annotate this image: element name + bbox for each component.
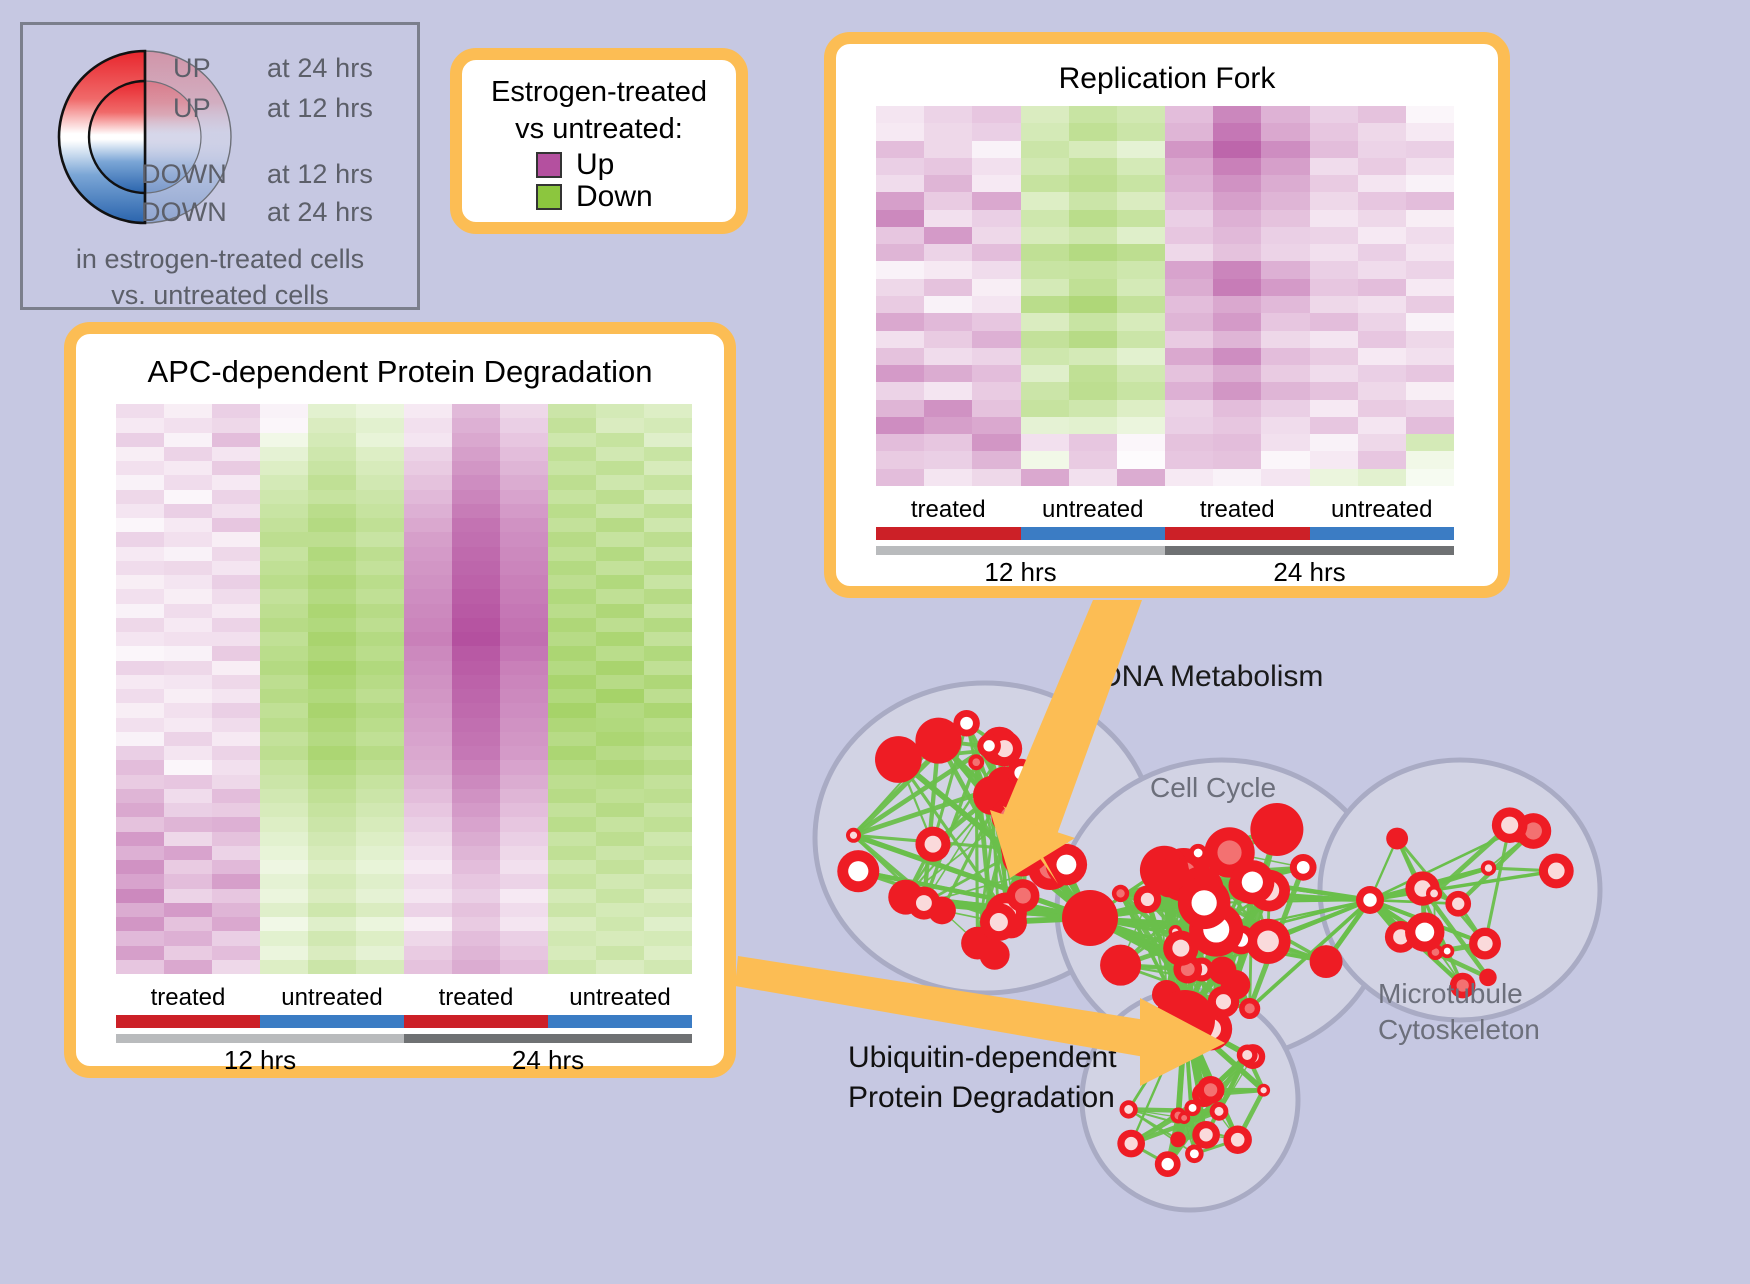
heatmap-cell <box>404 490 452 504</box>
heatmap-cell <box>164 532 212 546</box>
heatmap-cell <box>548 718 596 732</box>
heatmap-cell <box>452 589 500 603</box>
heatmap-cell <box>116 960 164 974</box>
heatmap-cell <box>1117 106 1165 123</box>
network-node <box>1117 1130 1145 1158</box>
heatmap-cell <box>876 382 924 399</box>
network-node <box>1257 1084 1270 1097</box>
heatmap-cell <box>308 447 356 461</box>
heatmap-cell <box>644 931 692 945</box>
heatmap-cell <box>1069 365 1117 382</box>
heatmap-cell <box>596 661 644 675</box>
heatmap-cell <box>1261 175 1309 192</box>
heatmap-cell <box>308 832 356 846</box>
network-graph <box>770 600 1750 1279</box>
heatmap-cell <box>452 718 500 732</box>
legend-title-line1: Estrogen-treated <box>480 74 718 111</box>
network-node <box>1539 853 1574 888</box>
heatmap-cell <box>1021 331 1069 348</box>
heatmap-cell <box>924 192 972 209</box>
heatmap-cell <box>548 817 596 831</box>
heatmap-cell <box>164 604 212 618</box>
heatmap-cell <box>500 404 548 418</box>
heatmap-cell <box>1021 227 1069 244</box>
heatmap-cell <box>260 703 308 717</box>
heatmap-cell <box>308 817 356 831</box>
heatmap-cell <box>356 404 404 418</box>
heatmap-cell <box>548 646 596 660</box>
heatmap-cell <box>548 889 596 903</box>
heatmap-cell <box>404 532 452 546</box>
heatmap-cell <box>1069 244 1117 261</box>
heatmap-cell <box>500 903 548 917</box>
heatmap-cell <box>876 348 924 365</box>
heatmap-cell <box>1021 141 1069 158</box>
time-group-bar <box>876 546 1165 555</box>
heatmap-cell <box>260 646 308 660</box>
heatmap-cell <box>164 703 212 717</box>
heatmap-cell <box>356 874 404 888</box>
heatmap-cell <box>972 106 1020 123</box>
heatmap-cell <box>596 561 644 575</box>
heatmap-cell <box>500 632 548 646</box>
heatmap-cell <box>1358 400 1406 417</box>
heatmap-cell <box>260 461 308 475</box>
heatmap-cell <box>1261 451 1309 468</box>
heatmap-cell <box>596 746 644 760</box>
heatmap-cell <box>1406 106 1454 123</box>
heatmap-cell <box>116 518 164 532</box>
heatmap-cell <box>164 832 212 846</box>
network-node <box>1356 886 1384 914</box>
heatmap-cell <box>260 675 308 689</box>
replication-fork-title: Replication Fork <box>836 62 1498 96</box>
sample-group-bar <box>1310 527 1455 540</box>
heatmap-cell <box>1021 175 1069 192</box>
heatmap-cell <box>1406 451 1454 468</box>
heatmap-cell <box>596 960 644 974</box>
heatmap-cell <box>404 732 452 746</box>
heatmap-cell <box>308 874 356 888</box>
heatmap-cell <box>644 661 692 675</box>
heatmap-cell <box>356 689 404 703</box>
heatmap-cell <box>1117 296 1165 313</box>
heatmap-cell <box>116 746 164 760</box>
heatmap-cell <box>1021 210 1069 227</box>
heatmap-cell <box>164 475 212 489</box>
heatmap-cell <box>404 518 452 532</box>
heatmap-cell <box>260 661 308 675</box>
network-node <box>991 798 1028 835</box>
heatmap-cell <box>548 917 596 931</box>
heatmap-cell <box>1310 400 1358 417</box>
heatmap-cell <box>548 404 596 418</box>
heatmap-cell <box>260 732 308 746</box>
heatmap-cell <box>308 889 356 903</box>
heatmap-cell <box>1213 417 1261 434</box>
heatmap-cell <box>1406 348 1454 365</box>
heatmap-cell <box>452 860 500 874</box>
heatmap-cell <box>356 475 404 489</box>
heatmap-cell <box>164 561 212 575</box>
time-group-bar <box>116 1034 404 1043</box>
heatmap-cell <box>1165 175 1213 192</box>
heatmap-cell <box>116 675 164 689</box>
heatmap-cell <box>644 946 692 960</box>
heatmap-cell <box>116 689 164 703</box>
sample-group-bar <box>1165 527 1310 540</box>
heatmap-cell <box>1406 261 1454 278</box>
heatmap-cell <box>356 575 404 589</box>
heatmap-cell <box>876 400 924 417</box>
network-node <box>1445 891 1471 917</box>
heatmap-cell <box>876 141 924 158</box>
network-node <box>1239 998 1260 1019</box>
network-node <box>1007 759 1035 787</box>
heatmap-cell <box>404 418 452 432</box>
heatmap-cell <box>452 960 500 974</box>
heatmap-cell <box>452 646 500 660</box>
heatmap-cell <box>404 903 452 917</box>
network-node <box>1005 828 1050 873</box>
heatmap-cell <box>260 561 308 575</box>
heatmap-cell <box>212 518 260 532</box>
heatmap-cell <box>356 775 404 789</box>
heatmap-cell <box>308 732 356 746</box>
heatmap-cell <box>1406 434 1454 451</box>
sample-group-bar <box>404 1015 548 1028</box>
heatmap-cell <box>596 718 644 732</box>
heatmap-cell <box>1165 261 1213 278</box>
replication-fork-sample-annotation: treateduntreatedtreateduntreated12 hrs24… <box>876 496 1454 588</box>
heatmap-cell <box>212 689 260 703</box>
heatmap-cell <box>356 817 404 831</box>
heatmap-cell <box>164 632 212 646</box>
heatmap-cell <box>164 789 212 803</box>
heatmap-cell <box>500 874 548 888</box>
time-label: 24 hrs <box>1165 557 1454 588</box>
network-node <box>1185 1145 1204 1164</box>
network-node <box>1426 885 1442 901</box>
network-node <box>1170 1132 1186 1148</box>
heatmap-cell <box>644 675 692 689</box>
heatmap-cell <box>1406 313 1454 330</box>
heatmap-cell <box>972 382 1020 399</box>
heatmap-cell <box>308 903 356 917</box>
heatmap-cell <box>1069 469 1117 486</box>
heatmap-cell <box>500 732 548 746</box>
heatmap-cell <box>644 646 692 660</box>
heatmap-cell <box>596 760 644 774</box>
heatmap-cell <box>644 817 692 831</box>
heatmap-cell <box>924 400 972 417</box>
heatmap-cell <box>1117 417 1165 434</box>
heatmap-cell <box>164 732 212 746</box>
heatmap-cell <box>1358 227 1406 244</box>
heatmap-cell <box>1117 451 1165 468</box>
heatmap-cell <box>356 832 404 846</box>
heatmap-cell <box>1310 382 1358 399</box>
heatmap-cell <box>1261 192 1309 209</box>
heatmap-cell <box>452 889 500 903</box>
heatmap-cell <box>1213 434 1261 451</box>
network-node <box>953 710 980 737</box>
heatmap-cell <box>644 832 692 846</box>
heatmap-cell <box>308 632 356 646</box>
heatmap-cell <box>164 504 212 518</box>
heatmap-cell <box>1213 382 1261 399</box>
heatmap-cell <box>452 732 500 746</box>
heatmap-cell <box>260 589 308 603</box>
heatmap-cell <box>1213 348 1261 365</box>
heatmap-cell <box>1213 227 1261 244</box>
heatmap-cell <box>116 661 164 675</box>
heatmap-cell <box>1310 244 1358 261</box>
heatmap-cell <box>212 775 260 789</box>
heatmap-cell <box>260 618 308 632</box>
heatmap-cell <box>596 575 644 589</box>
heatmap-cell <box>1165 296 1213 313</box>
network-node <box>968 754 984 770</box>
heatmap-cell <box>1165 210 1213 227</box>
heatmap-cell <box>404 775 452 789</box>
heatmap-cell <box>1117 434 1165 451</box>
heatmap-cell <box>212 860 260 874</box>
heatmap-cell <box>452 490 500 504</box>
heatmap-cell <box>548 689 596 703</box>
heatmap-cell <box>1358 313 1406 330</box>
heatmap-cell <box>404 832 452 846</box>
heatmap-cell <box>260 504 308 518</box>
network-node <box>1210 1102 1229 1121</box>
heatmap-cell <box>972 331 1020 348</box>
heatmap-cell <box>644 760 692 774</box>
heatmap-cell <box>1021 417 1069 434</box>
heatmap-cell <box>404 404 452 418</box>
heatmap-cell <box>596 547 644 561</box>
heatmap-cell <box>1310 434 1358 451</box>
heatmap-cell <box>972 175 1020 192</box>
heatmap-cell <box>356 917 404 931</box>
heatmap-cell <box>308 518 356 532</box>
heatmap-cell <box>164 874 212 888</box>
heatmap-cell <box>260 889 308 903</box>
heatmap-cell <box>1069 175 1117 192</box>
heatmap-cell <box>164 547 212 561</box>
sample-group-bar <box>1021 527 1166 540</box>
network-node <box>1230 860 1274 904</box>
heatmap-cell <box>308 575 356 589</box>
heatmap-cell <box>212 632 260 646</box>
heatmap-cell <box>164 775 212 789</box>
heatmap-cell <box>644 846 692 860</box>
heatmap-cell <box>308 433 356 447</box>
heatmap-cell <box>356 646 404 660</box>
heatmap-cell <box>1165 106 1213 123</box>
heatmap-cell <box>308 946 356 960</box>
heatmap-cell <box>1117 141 1165 158</box>
heatmap-cell <box>1021 296 1069 313</box>
heatmap-cell <box>1213 158 1261 175</box>
heatmap-cell <box>212 732 260 746</box>
heatmap-cell <box>308 689 356 703</box>
heatmap-cell <box>924 382 972 399</box>
heatmap-cell <box>260 846 308 860</box>
heatmap-cell <box>876 469 924 486</box>
heatmap-cell <box>548 433 596 447</box>
network-node <box>846 828 861 843</box>
heatmap-cell <box>260 775 308 789</box>
legend-title-line2: vs untreated: <box>480 111 718 148</box>
heatmap-cell <box>1358 279 1406 296</box>
heatmap-cell <box>972 261 1020 278</box>
heatmap-cell <box>116 490 164 504</box>
heatmap-cell <box>500 532 548 546</box>
heatmap-cell <box>356 461 404 475</box>
heatmap-cell <box>644 775 692 789</box>
heatmap-cell <box>260 433 308 447</box>
heatmap-cell <box>1261 365 1309 382</box>
heatmap-cell <box>1213 106 1261 123</box>
sample-group-bar <box>876 527 1021 540</box>
heatmap-cell <box>924 279 972 296</box>
heatmap-cell <box>260 632 308 646</box>
heatmap-cell <box>1069 313 1117 330</box>
heatmap-cell <box>1117 365 1165 382</box>
heatmap-cell <box>1406 123 1454 140</box>
heatmap-cell <box>1021 365 1069 382</box>
heatmap-cell <box>212 760 260 774</box>
heatmap-cell <box>644 561 692 575</box>
heatmap-cell <box>260 789 308 803</box>
heatmap-cell <box>876 123 924 140</box>
heatmap-cell <box>500 447 548 461</box>
heatmap-cell <box>548 860 596 874</box>
cluster-label-dna-metabolism: DNA Metabolism <box>1100 660 1323 694</box>
heatmap-cell <box>972 313 1020 330</box>
heatmap-cell <box>164 889 212 903</box>
heatmap-cell <box>404 575 452 589</box>
heatmap-cell <box>212 832 260 846</box>
heatmap-cell <box>308 703 356 717</box>
heatmap-cell <box>212 718 260 732</box>
heatmap-cell <box>452 461 500 475</box>
heatmap-cell <box>500 661 548 675</box>
heatmap-cell <box>500 775 548 789</box>
heatmap-cell <box>1310 158 1358 175</box>
key-row-1-label: UP <box>173 93 211 124</box>
heatmap-cell <box>1406 331 1454 348</box>
heatmap-cell <box>596 675 644 689</box>
heatmap-cell <box>972 417 1020 434</box>
heatmap-cell <box>1261 469 1309 486</box>
key-row-2-label: DOWN <box>141 159 227 190</box>
heatmap-cell <box>644 475 692 489</box>
heatmap-cell <box>1358 244 1406 261</box>
heatmap-cell <box>356 760 404 774</box>
heatmap-cell <box>596 604 644 618</box>
heatmap-cell <box>876 417 924 434</box>
heatmap-cell <box>596 490 644 504</box>
heatmap-cell <box>308 931 356 945</box>
heatmap-cell <box>404 789 452 803</box>
heatmap-cell <box>1358 141 1406 158</box>
key-footnote-line1: in estrogen-treated cells <box>23 241 417 277</box>
heatmap-cell <box>644 960 692 974</box>
heatmap-cell <box>1261 348 1309 365</box>
heatmap-cell <box>924 175 972 192</box>
heatmap-cell <box>1021 158 1069 175</box>
heatmap-cell <box>1310 331 1358 348</box>
heatmap-cell <box>500 561 548 575</box>
heatmap-cell <box>308 618 356 632</box>
heatmap-cell <box>260 475 308 489</box>
heatmap-cell <box>924 210 972 227</box>
heatmap-cell <box>644 418 692 432</box>
legend-label-down: Down <box>576 182 653 212</box>
heatmap-cell <box>876 434 924 451</box>
heatmap-cell <box>212 604 260 618</box>
heatmap-cell <box>548 632 596 646</box>
heatmap-cell <box>1406 227 1454 244</box>
heatmap-cell <box>260 532 308 546</box>
heatmap-cell <box>164 661 212 675</box>
heatmap-cell <box>1165 141 1213 158</box>
heatmap-cell <box>116 646 164 660</box>
heatmap-cell <box>212 589 260 603</box>
heatmap-cell <box>924 158 972 175</box>
heatmap-cell <box>212 575 260 589</box>
heatmap-cell <box>1069 261 1117 278</box>
heatmap-cell <box>500 675 548 689</box>
heatmap-cell <box>500 547 548 561</box>
heatmap-cell <box>644 689 692 703</box>
legend-swatch-down <box>536 184 562 210</box>
key-row-0-time: at 24 hrs <box>267 53 373 84</box>
heatmap-cell <box>1165 279 1213 296</box>
network-node <box>1223 1126 1251 1154</box>
heatmap-cell <box>212 475 260 489</box>
heatmap-cell <box>260 547 308 561</box>
heatmap-cell <box>404 703 452 717</box>
network-node <box>1155 1151 1181 1177</box>
heatmap-cell <box>356 960 404 974</box>
heatmap-cell <box>644 532 692 546</box>
heatmap-cell <box>116 547 164 561</box>
heatmap-cell <box>308 789 356 803</box>
heatmap-cell <box>596 874 644 888</box>
network-node <box>1405 912 1444 951</box>
heatmap-cell <box>924 469 972 486</box>
heatmap-cell <box>596 703 644 717</box>
heatmap-cell <box>596 946 644 960</box>
heatmap-cell <box>404 874 452 888</box>
heatmap-cell <box>1261 331 1309 348</box>
heatmap-cell <box>548 960 596 974</box>
network-node <box>1386 828 1408 850</box>
heatmap-cell <box>452 475 500 489</box>
heatmap-cell <box>1213 210 1261 227</box>
heatmap-cell <box>212 917 260 931</box>
heatmap-cell <box>1310 227 1358 244</box>
sample-group-bar <box>116 1015 260 1028</box>
heatmap-cell <box>260 960 308 974</box>
heatmap-cell <box>308 475 356 489</box>
heatmap-cell <box>1310 313 1358 330</box>
heatmap-cell <box>500 746 548 760</box>
network-node <box>875 736 922 783</box>
heatmap-cell <box>1165 348 1213 365</box>
